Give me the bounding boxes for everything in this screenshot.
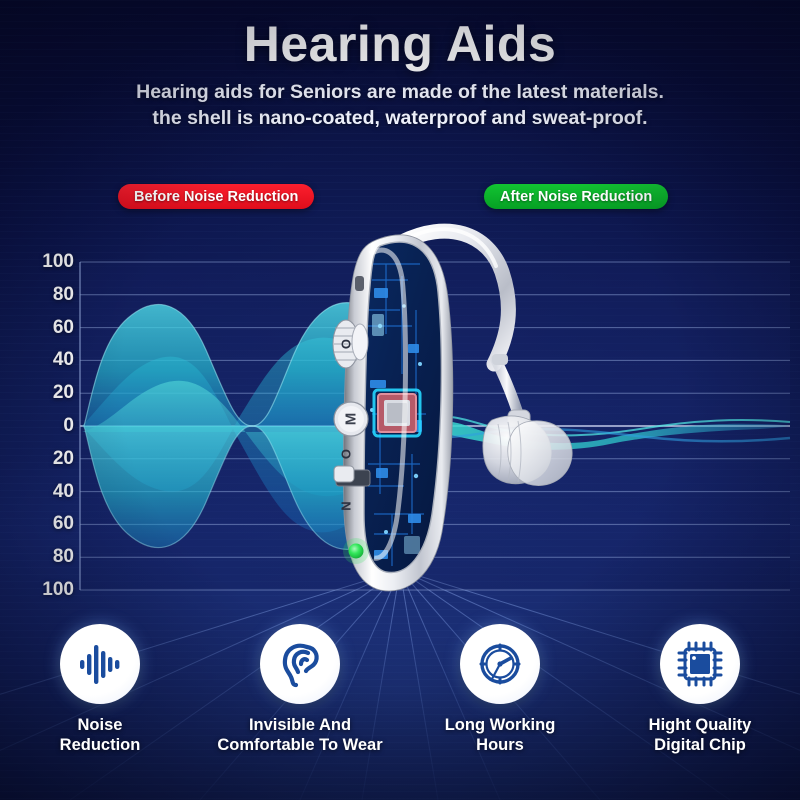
feature-icon-circle xyxy=(260,624,340,704)
device-mode-button[interactable]: M xyxy=(334,402,368,436)
feature-item-long-working-hours: Long Working Hours xyxy=(400,624,600,792)
feature-item-invisible-comfortable: Invisible And Comfortable To Wear xyxy=(200,624,400,792)
y-axis-labels: 100 80 60 40 20 0 20 40 60 80 100 xyxy=(0,246,74,598)
clock-icon xyxy=(475,639,525,689)
device-microphone-port xyxy=(355,276,364,291)
feature-icon-circle xyxy=(60,624,140,704)
subtitle-line-1: Hearing aids for Seniors are made of the… xyxy=(0,80,800,106)
y-tick-40-neg: 40 xyxy=(0,481,74,503)
feature-icon-circle xyxy=(460,624,540,704)
device-tube-collar-top xyxy=(492,354,508,365)
y-tick-100-neg: 100 xyxy=(0,579,74,601)
device-mode-button-label: M xyxy=(343,413,360,426)
y-tick-20-pos: 20 xyxy=(0,382,74,404)
hearing-aid-device-image: O M O N xyxy=(316,214,576,604)
ear-icon xyxy=(275,639,325,689)
legend-badges: Before Noise Reduction After Noise Reduc… xyxy=(0,184,800,210)
chip-icon xyxy=(675,639,725,689)
y-tick-80-neg: 80 xyxy=(0,546,74,568)
sound-wave-icon xyxy=(75,639,125,689)
device-switch-label-n: N xyxy=(339,501,354,510)
feature-icon-circle xyxy=(660,624,740,704)
y-tick-60-pos: 60 xyxy=(0,317,74,339)
y-tick-20-neg: 20 xyxy=(0,448,74,470)
device-switch-label-o: O xyxy=(339,449,354,459)
feature-item-noise-reduction: Noise Reduction xyxy=(0,624,200,792)
infographic-canvas: Hearing Aids Hearing aids for Seniors ar… xyxy=(0,0,800,800)
subtitle-line-2: the shell is nano-coated, waterproof and… xyxy=(0,106,800,132)
device-status-led-glow xyxy=(343,538,369,564)
badge-after-noise-reduction: After Noise Reduction xyxy=(484,184,668,209)
feature-label: Long Working Hours xyxy=(445,715,556,755)
device-main-chip xyxy=(374,390,420,436)
subtitle: Hearing aids for Seniors are made of the… xyxy=(0,80,800,131)
y-tick-100-pos: 100 xyxy=(0,251,74,273)
feature-label: Hight Quality Digital Chip xyxy=(649,715,752,755)
badge-before-noise-reduction: Before Noise Reduction xyxy=(118,184,314,209)
feature-list: Noise Reduction Invisible And Comfortabl… xyxy=(0,624,800,792)
page-title: Hearing Aids xyxy=(0,18,800,70)
header: Hearing Aids Hearing aids for Seniors ar… xyxy=(0,18,800,131)
feature-label: Invisible And Comfortable To Wear xyxy=(217,715,382,755)
y-tick-zero: 0 xyxy=(0,415,74,437)
y-tick-60-neg: 60 xyxy=(0,513,74,535)
device-ear-tip xyxy=(483,416,572,486)
feature-item-high-quality-chip: Hight Quality Digital Chip xyxy=(600,624,800,792)
y-tick-40-pos: 40 xyxy=(0,349,74,371)
y-tick-80-pos: 80 xyxy=(0,284,74,306)
feature-label: Noise Reduction xyxy=(60,715,141,755)
device-volume-dial-label: O xyxy=(339,339,354,349)
